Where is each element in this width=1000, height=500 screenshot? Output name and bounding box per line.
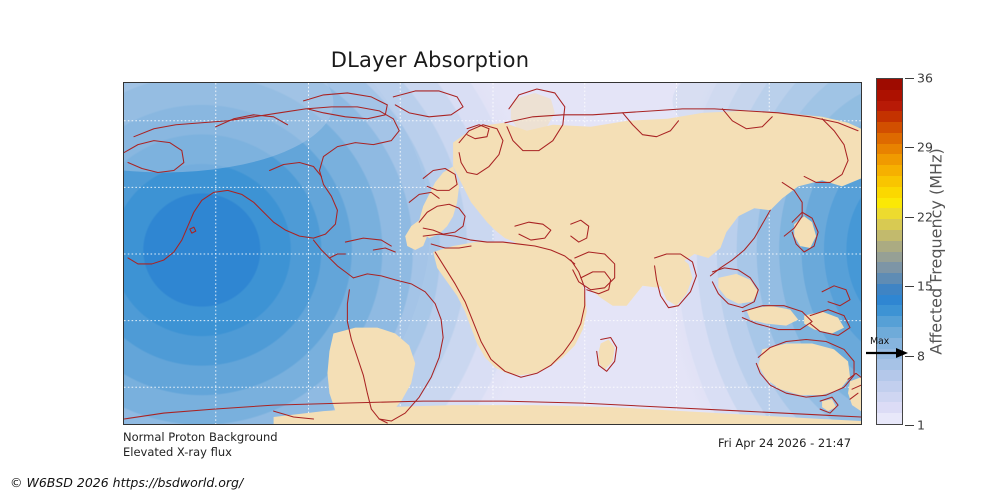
colorbar-band: [877, 165, 902, 176]
colorbar-band: [877, 176, 902, 187]
colorbar-band: [877, 252, 902, 263]
colorbar-band: [877, 316, 902, 327]
colorbar-band: [877, 284, 902, 295]
note-xray-flux: Elevated X-ray flux: [123, 445, 232, 459]
colorbar-band: [877, 381, 902, 392]
timestamp: Fri Apr 24 2026 - 21:47: [718, 436, 851, 450]
colorbar-band: [877, 79, 902, 90]
colorbar-band: [877, 90, 902, 101]
colorbar-band: [877, 133, 902, 144]
colorbar-band: [877, 187, 902, 198]
colorbar-axis-label: Affected Frequency (MHz): [926, 78, 946, 425]
colorbar-band: [877, 370, 902, 381]
colorbar-tick-mark: [905, 425, 914, 426]
colorbar-tick-mark: [905, 286, 914, 287]
colorbar-tick-mark: [905, 147, 914, 148]
chart-canvas: DLayer Absorption: [0, 0, 1000, 500]
map-svg: [124, 83, 861, 424]
colorbar-band: [877, 230, 902, 241]
colorbar-tick-label: 8: [917, 348, 925, 363]
colorbar-band: [877, 273, 902, 284]
footer-credit: © W6BSD 2026 https://bsdworld.org/: [10, 475, 243, 490]
colorbar-band: [877, 262, 902, 273]
colorbar-band: [877, 392, 902, 403]
colorbar-tick-mark: [905, 78, 914, 79]
max-arrow-icon: [862, 346, 908, 360]
max-marker: Max: [862, 337, 918, 363]
colorbar-band: [877, 305, 902, 316]
colorbar-band: [877, 295, 902, 306]
colorbar-band: [877, 122, 902, 133]
colorbar: [876, 78, 903, 425]
page-title: DLayer Absorption: [0, 48, 860, 72]
colorbar-tick-mark: [905, 217, 914, 218]
colorbar-band: [877, 402, 902, 413]
colorbar-band: [877, 413, 902, 424]
colorbar-band: [877, 111, 902, 122]
note-proton-background: Normal Proton Background: [123, 430, 278, 444]
world-absorption-map: [123, 82, 862, 425]
colorbar-band: [877, 241, 902, 252]
colorbar-axis-label-text: Affected Frequency (MHz): [927, 148, 946, 354]
colorbar-band: [877, 144, 902, 155]
colorbar-band: [877, 219, 902, 230]
colorbar-band: [877, 101, 902, 112]
colorbar-band: [877, 198, 902, 209]
colorbar-band: [877, 208, 902, 219]
colorbar-tick-label: 1: [917, 418, 925, 433]
colorbar-band: [877, 154, 902, 165]
